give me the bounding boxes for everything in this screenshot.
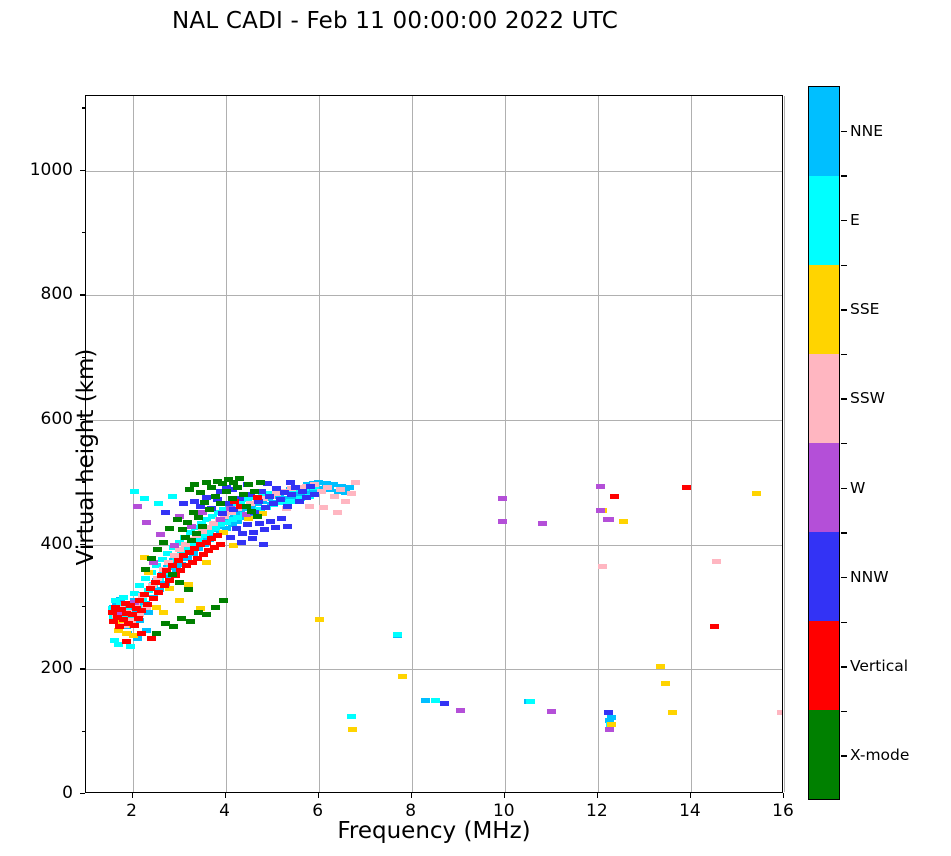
- data-point: [233, 485, 242, 490]
- data-point: [306, 484, 315, 489]
- data-point: [283, 524, 292, 529]
- data-point: [168, 494, 177, 499]
- data-point: [183, 520, 192, 525]
- data-point: [202, 612, 211, 617]
- colorbar: [808, 86, 840, 800]
- colorbar-label-ssw: SSW: [850, 389, 885, 407]
- x-axis-title: Frequency (MHz): [85, 818, 783, 844]
- data-point: [283, 504, 292, 509]
- colorbar-tick: [841, 398, 847, 399]
- data-point: [456, 708, 465, 713]
- data-point: [310, 492, 319, 497]
- data-point: [216, 542, 225, 547]
- data-point: [185, 487, 194, 492]
- data-point: [184, 587, 193, 592]
- data-point: [777, 710, 782, 715]
- colorbar-boundary-tick: [841, 175, 847, 176]
- colorbar-segment-vertical: [809, 621, 839, 710]
- data-point: [178, 527, 187, 532]
- data-point: [668, 710, 677, 715]
- x-tick: [690, 793, 691, 798]
- data-point: [154, 590, 163, 595]
- data-point: [547, 709, 556, 714]
- x-tick: [225, 793, 226, 798]
- data-point: [348, 727, 357, 732]
- data-point: [137, 608, 146, 613]
- data-point: [347, 714, 356, 719]
- data-point: [140, 496, 149, 501]
- data-point: [421, 698, 430, 703]
- data-point: [431, 698, 440, 703]
- y-minor-tick: [82, 232, 85, 233]
- data-point: [330, 494, 339, 499]
- data-point: [323, 485, 332, 490]
- data-point: [173, 517, 182, 522]
- data-point: [265, 494, 274, 499]
- data-point: [213, 533, 222, 538]
- data-point: [315, 617, 324, 622]
- data-point: [154, 501, 163, 506]
- data-point: [119, 595, 128, 600]
- data-point: [175, 598, 184, 603]
- data-point: [276, 497, 285, 502]
- x-tick: [132, 793, 133, 798]
- data-point: [126, 644, 135, 649]
- x-tick: [504, 793, 505, 798]
- y-minor-tick: [82, 107, 85, 108]
- data-point: [710, 624, 719, 629]
- data-point: [398, 674, 407, 679]
- data-point: [619, 519, 628, 524]
- data-point: [147, 636, 156, 641]
- data-point: [538, 521, 547, 526]
- colorbar-boundary-tick: [841, 265, 847, 266]
- data-point: [596, 484, 605, 489]
- data-point: [498, 496, 507, 501]
- data-point: [222, 489, 231, 494]
- data-point: [142, 520, 151, 525]
- data-point: [211, 605, 220, 610]
- data-point: [216, 517, 225, 522]
- data-point: [250, 489, 259, 494]
- y-tick-label: 0: [62, 783, 73, 803]
- x-tick: [783, 793, 784, 798]
- colorbar-tick: [841, 755, 847, 756]
- data-point: [216, 501, 225, 506]
- x-tick: [597, 793, 598, 798]
- data-point: [243, 522, 252, 527]
- y-tick-label: 1000: [30, 160, 73, 180]
- data-point: [130, 623, 139, 628]
- data-point: [211, 494, 220, 499]
- data-point: [170, 543, 179, 548]
- data-point: [175, 580, 184, 585]
- data-point: [345, 485, 354, 490]
- data-point: [341, 499, 350, 504]
- data-point: [249, 530, 258, 535]
- colorbar-tick: [841, 220, 847, 221]
- data-point: [228, 496, 237, 501]
- data-point: [440, 701, 449, 706]
- data-point: [656, 664, 665, 669]
- data-point: [159, 610, 168, 615]
- colorbar-tick: [841, 577, 847, 578]
- x-tick: [411, 793, 412, 798]
- data-point: [198, 524, 207, 529]
- colorbar-segment-nnw: [809, 532, 839, 621]
- data-point: [235, 476, 244, 481]
- y-tick-label: 800: [41, 284, 73, 304]
- plot-area: [85, 95, 783, 793]
- data-point: [244, 482, 253, 487]
- colorbar-boundary-tick: [841, 711, 847, 712]
- colorbar-label-vertical: Vertical: [850, 657, 908, 675]
- data-point: [336, 487, 345, 492]
- colorbar-tick: [841, 488, 847, 489]
- data-point: [115, 624, 124, 629]
- data-point: [200, 500, 209, 505]
- data-point: [333, 510, 342, 515]
- data-point: [605, 727, 614, 732]
- data-point: [196, 490, 205, 495]
- y-minor-tick: [82, 731, 85, 732]
- colorbar-label-sse: SSE: [850, 300, 879, 318]
- data-point: [186, 619, 195, 624]
- data-point: [137, 631, 146, 636]
- y-tick: [80, 170, 85, 171]
- colorbar-segment-sse: [809, 265, 839, 354]
- colorbar-label-e: E: [850, 211, 860, 229]
- data-point: [319, 505, 328, 510]
- data-point: [598, 564, 607, 569]
- data-point: [194, 515, 203, 520]
- data-point: [205, 507, 214, 512]
- data-point: [347, 491, 356, 496]
- data-points-layer: [86, 96, 782, 792]
- data-point: [239, 492, 248, 497]
- colorbar-boundary-tick: [841, 443, 847, 444]
- y-tick-label: 600: [41, 409, 73, 429]
- colorbar-segment-x-mode: [809, 710, 839, 799]
- data-point: [161, 510, 170, 515]
- data-point: [286, 480, 295, 485]
- data-point: [605, 517, 614, 522]
- data-point: [253, 495, 262, 500]
- chart-title: NAL CADI - Feb 11 00:00:00 2022 UTC: [0, 8, 790, 34]
- data-point: [266, 519, 275, 524]
- data-point: [661, 681, 670, 686]
- data-point: [596, 508, 605, 513]
- colorbar-segment-ssw: [809, 354, 839, 443]
- data-point: [237, 540, 246, 545]
- data-point: [143, 602, 152, 607]
- data-point: [253, 514, 262, 519]
- data-point: [149, 596, 158, 601]
- colorbar-boundary-tick: [841, 354, 847, 355]
- gridline-vertical: [784, 96, 785, 792]
- data-point: [305, 504, 314, 509]
- y-tick-label: 400: [41, 534, 73, 554]
- data-point: [134, 616, 143, 621]
- colorbar-segment-e: [809, 176, 839, 265]
- ionogram-figure: NAL CADI - Feb 11 00:00:00 2022 UTC 2468…: [0, 0, 951, 856]
- data-point: [190, 482, 199, 487]
- data-point: [248, 536, 257, 541]
- data-point: [287, 492, 296, 497]
- data-point: [160, 583, 169, 588]
- data-point: [259, 542, 268, 547]
- data-point: [682, 485, 691, 490]
- data-point: [218, 511, 227, 516]
- colorbar-tick: [841, 309, 847, 310]
- y-tick: [80, 793, 85, 794]
- data-point: [255, 521, 264, 526]
- colorbar-boundary-tick: [841, 532, 847, 533]
- data-point: [153, 547, 162, 552]
- data-point: [271, 525, 280, 530]
- data-point: [130, 489, 139, 494]
- colorbar-tick: [841, 666, 847, 667]
- data-point: [141, 567, 150, 572]
- colorbar-tick: [841, 131, 847, 132]
- data-point: [192, 531, 201, 536]
- data-point: [498, 519, 507, 524]
- y-tick: [80, 668, 85, 669]
- data-point: [169, 624, 178, 629]
- data-point: [256, 480, 265, 485]
- data-point: [260, 527, 269, 532]
- data-point: [133, 504, 142, 509]
- data-point: [202, 560, 211, 565]
- colorbar-label-nnw: NNW: [850, 568, 889, 586]
- data-point: [607, 715, 616, 720]
- data-point: [238, 531, 247, 536]
- data-point: [752, 491, 761, 496]
- colorbar-label-x-mode: X-mode: [850, 746, 909, 764]
- data-point: [207, 485, 216, 490]
- data-point: [526, 699, 535, 704]
- data-point: [168, 572, 177, 577]
- colorbar-label-nne: NNE: [850, 122, 883, 140]
- data-point: [226, 535, 235, 540]
- data-point: [156, 532, 165, 537]
- colorbar-boundary-tick: [841, 622, 847, 623]
- colorbar-segment-w: [809, 443, 839, 532]
- colorbar-label-w: W: [850, 479, 865, 497]
- data-point: [277, 516, 286, 521]
- data-point: [393, 632, 402, 637]
- data-point: [219, 598, 228, 603]
- data-point: [351, 480, 360, 485]
- y-tick: [80, 294, 85, 295]
- data-point: [159, 540, 168, 545]
- data-point: [165, 526, 174, 531]
- data-point: [141, 576, 150, 581]
- data-point: [604, 710, 613, 715]
- data-point: [187, 538, 196, 543]
- y-tick-label: 200: [41, 658, 73, 678]
- data-point: [179, 501, 188, 506]
- data-point: [165, 578, 174, 583]
- data-point: [152, 631, 161, 636]
- x-tick: [318, 793, 319, 798]
- data-point: [712, 559, 721, 564]
- data-point: [298, 489, 307, 494]
- data-point: [122, 639, 131, 644]
- data-point: [147, 556, 156, 561]
- data-point: [610, 494, 619, 499]
- colorbar-segment-nne: [809, 87, 839, 176]
- y-axis-title: Virtual height (km): [73, 297, 99, 617]
- data-point: [176, 568, 185, 573]
